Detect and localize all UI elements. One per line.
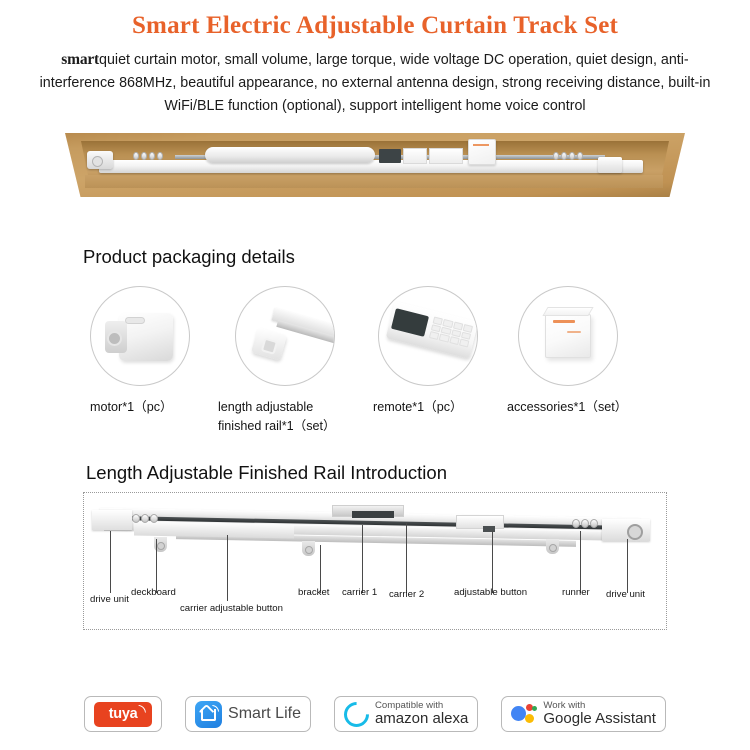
label-carrier-adjustable-button: carrier adjustable button <box>180 603 283 614</box>
diagram-bracket-mid <box>302 541 315 556</box>
label-carrier-1: carrier 1 <box>342 587 377 598</box>
diagram-carrier-block <box>352 511 394 518</box>
diagram-runner-group-right <box>572 519 598 528</box>
label-deckboard: deckboard <box>131 587 176 598</box>
alexa-icon <box>339 696 374 731</box>
tuya-logo-text: tuya <box>109 706 138 722</box>
packaging-caption-remote: remote*1（pc） <box>373 398 463 417</box>
label-drive-unit-left: drive unit <box>90 594 129 605</box>
rail-icon <box>235 286 335 386</box>
leader-line-3 <box>227 535 228 601</box>
badge-amazon-alexa[interactable]: Compatible with amazon alexa <box>334 696 478 732</box>
tuya-wave-icon <box>138 704 146 712</box>
remote-screen <box>379 149 401 163</box>
leader-line-7 <box>492 531 493 593</box>
badge-tuya[interactable]: tuya <box>84 696 162 732</box>
smart-life-label: Smart Life <box>228 705 301 723</box>
carrier-group-left <box>133 152 163 160</box>
rail-diagram: drive unit deckboard carrier adjustable … <box>83 492 667 630</box>
google-assistant-icon <box>511 702 537 726</box>
alexa-line2: amazon alexa <box>375 711 468 727</box>
google-line2: Google Assistant <box>543 711 656 727</box>
rail-section-heading: Length Adjustable Finished Rail Introduc… <box>86 462 447 484</box>
leader-line-9 <box>627 539 628 593</box>
label-carrier-2: carrier 2 <box>389 589 424 600</box>
label-bracket: bracket <box>298 587 329 598</box>
diagram-adjustable-button <box>456 515 504 529</box>
description-prefix: smart <box>61 51 99 68</box>
drive-end-cap <box>87 151 113 169</box>
leader-line-8 <box>580 531 581 593</box>
hero-product-image <box>55 127 695 205</box>
rail-end-cap <box>598 157 622 173</box>
smart-life-home-icon <box>195 701 222 728</box>
description-body: quiet curtain motor, small volume, large… <box>40 52 711 114</box>
leader-line-2 <box>156 539 157 593</box>
packaging-item-accessories: accessories*1（set） <box>518 286 618 386</box>
label-drive-unit-right: drive unit <box>606 589 645 600</box>
diagram-drive-unit-left <box>92 510 132 530</box>
packaging-item-motor: motor*1（pc） <box>90 286 190 386</box>
product-description: smartquiet curtain motor, small volume, … <box>30 47 720 118</box>
motor-unit <box>205 147 375 163</box>
remote-icon <box>378 286 478 386</box>
badge-google-assistant[interactable]: Work with Google Assistant <box>501 696 666 732</box>
alexa-text: Compatible with amazon alexa <box>375 701 468 728</box>
product-detail-page: Smart Electric Adjustable Curtain Track … <box>0 0 750 750</box>
packaging-caption-rail: length adjustable finished rail*1（set） <box>218 398 368 436</box>
diagram-drive-unit-right <box>602 519 650 541</box>
label-runner: runner <box>562 587 590 598</box>
accessories-box-icon <box>518 286 618 386</box>
packaging-heading: Product packaging details <box>83 246 295 268</box>
diagram-deckboard <box>134 521 294 538</box>
packaging-caption-motor: motor*1（pc） <box>90 398 173 417</box>
motor-icon <box>90 286 190 386</box>
tuya-icon: tuya <box>94 702 152 727</box>
leader-line-4 <box>320 545 321 593</box>
google-assistant-text: Work with Google Assistant <box>543 701 656 728</box>
packaging-caption-accessories: accessories*1（set） <box>507 398 627 417</box>
leader-line-6 <box>406 523 407 593</box>
packaging-item-remote: remote*1（pc） <box>378 286 478 386</box>
packaging-items: motor*1（pc） length adjustable finished r… <box>0 286 750 436</box>
page-title: Smart Electric Adjustable Curtain Track … <box>0 0 750 40</box>
leader-line-5 <box>362 525 363 593</box>
accessories-box <box>468 139 496 165</box>
packaging-item-rail: length adjustable finished rail*1（set） <box>235 286 335 386</box>
diagram-bracket-right <box>546 539 559 554</box>
label-adjustable-button: adjustable button <box>454 587 527 598</box>
manual-sheet <box>429 148 463 164</box>
badge-smart-life[interactable]: Smart Life <box>185 696 311 732</box>
remote-keypad <box>403 148 427 164</box>
carton-floor <box>85 175 663 188</box>
platform-badges: tuya Smart Life Compatible with amazon a… <box>0 696 750 732</box>
carrier-group-right <box>553 152 583 160</box>
leader-line-1 <box>110 531 111 593</box>
diagram-runner-group-left <box>132 514 158 523</box>
